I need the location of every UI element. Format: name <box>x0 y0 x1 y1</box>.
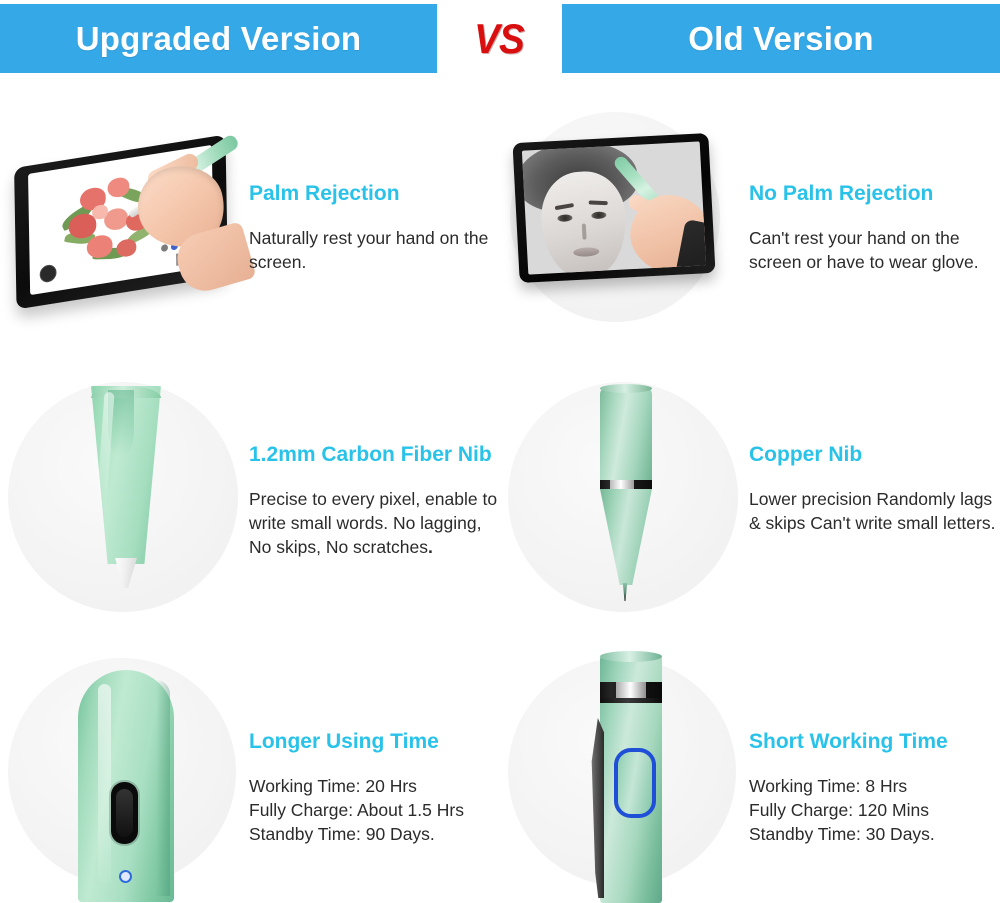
old-stylus-tip-icon <box>590 388 660 603</box>
old-version-label: Old Version <box>688 20 874 58</box>
spec-working-time: Working Time: 8 Hrs <box>749 774 999 798</box>
pocket-clip-icon <box>582 718 604 898</box>
nib-body-period: . <box>428 537 433 557</box>
longer-using-time-illustration <box>0 650 250 903</box>
comparison-infographic: Upgraded Version VS Old Version <box>0 0 1000 903</box>
row1-upgraded-column: Palm Rejection Naturally rest your hand … <box>0 110 500 350</box>
no-palm-rejection-illustration <box>500 110 750 350</box>
longer-using-time-heading: Longer Using Time <box>249 730 439 754</box>
stylus-gloss-highlight <box>98 684 111 884</box>
row1-old-column: No Palm Rejection Can't rest your hand o… <box>500 110 1000 350</box>
stylus-steel-band <box>610 480 634 489</box>
tablet-device-icon <box>512 133 715 283</box>
old-version-banner: Old Version <box>562 4 1000 73</box>
stylus-steel-band <box>616 682 646 698</box>
palm-rejection-illustration <box>0 110 250 350</box>
feature-row-battery: Longer Using Time Working Time: 20 Hrs F… <box>0 650 1000 903</box>
upgraded-version-banner: Upgraded Version <box>0 4 437 73</box>
short-working-time-heading: Short Working Time <box>749 730 948 754</box>
palm-rejection-heading: Palm Rejection <box>249 182 400 206</box>
tablet-home-button <box>40 264 57 284</box>
short-working-time-illustration <box>500 650 750 903</box>
spec-working-time: Working Time: 20 Hrs <box>249 774 499 798</box>
row2-old-column: Copper Nib Lower precision Randomly lags… <box>500 370 1000 625</box>
copper-nib-heading: Copper Nib <box>749 443 862 467</box>
spec-fully-charge: Fully Charge: 120 Mins <box>749 798 999 822</box>
no-palm-rejection-heading: No Palm Rejection <box>749 182 933 206</box>
stylus-edge-shadow <box>156 680 170 896</box>
usb-c-port-inner <box>116 789 133 837</box>
spec-standby-time: Standby Time: 90 Days. <box>249 822 499 846</box>
no-palm-rejection-body: Can't rest your hand on the screen or ha… <box>749 226 995 274</box>
header-banner-row: Upgraded Version VS Old Version <box>0 0 1000 80</box>
carbon-fiber-white-nib <box>113 558 139 588</box>
vs-label: VS <box>475 15 525 63</box>
vs-separator: VS <box>437 4 562 73</box>
tablet-screen <box>522 141 706 274</box>
upgraded-version-label: Upgraded Version <box>76 20 362 58</box>
palm-rejection-body: Naturally rest your hand on the screen. <box>249 226 495 274</box>
copper-nib-illustration <box>500 370 750 625</box>
stylus-barrel-top <box>600 384 652 393</box>
row2-upgraded-column: 1.2mm Carbon Fiber Nib Precise to every … <box>0 370 500 625</box>
stylus-taper <box>600 489 652 585</box>
carbon-fiber-nib-illustration <box>0 370 250 625</box>
stylus-top-face <box>600 651 662 662</box>
mint-stylus-tip-icon <box>80 386 172 586</box>
tablet-drawing-scene-icon <box>8 132 248 322</box>
stylus-lower-band <box>600 698 662 703</box>
longer-using-time-specs: Working Time: 20 Hrs Fully Charge: About… <box>249 774 499 846</box>
mint-stylus-top-icon <box>78 670 174 902</box>
spec-fully-charge: Fully Charge: About 1.5 Hrs <box>249 798 499 822</box>
led-indicator-icon <box>119 870 132 883</box>
carbon-fiber-nib-body: Precise to every pixel, enable to write … <box>249 487 499 559</box>
copper-nib-point <box>621 583 629 601</box>
hand-holding-stylus-icon <box>120 138 240 288</box>
spec-standby-time: Standby Time: 30 Days. <box>749 822 999 846</box>
row3-upgraded-column: Longer Using Time Working Time: 20 Hrs F… <box>0 650 500 903</box>
power-button-icon <box>614 748 656 818</box>
hand-holding-stylus-icon <box>620 174 707 275</box>
row3-old-column: Short Working Time Working Time: 8 Hrs F… <box>500 650 1000 903</box>
carbon-fiber-nib-heading: 1.2mm Carbon Fiber Nib <box>249 443 492 467</box>
stylus-barrel <box>600 388 652 484</box>
old-stylus-body-icon <box>578 656 678 903</box>
feature-row-palm-rejection: Palm Rejection Naturally rest your hand … <box>0 110 1000 350</box>
feature-row-nib: 1.2mm Carbon Fiber Nib Precise to every … <box>0 370 1000 625</box>
usb-c-port-icon <box>111 782 138 844</box>
short-working-time-specs: Working Time: 8 Hrs Fully Charge: 120 Mi… <box>749 774 999 846</box>
copper-nib-body: Lower precision Randomly lags & skips Ca… <box>749 487 999 535</box>
